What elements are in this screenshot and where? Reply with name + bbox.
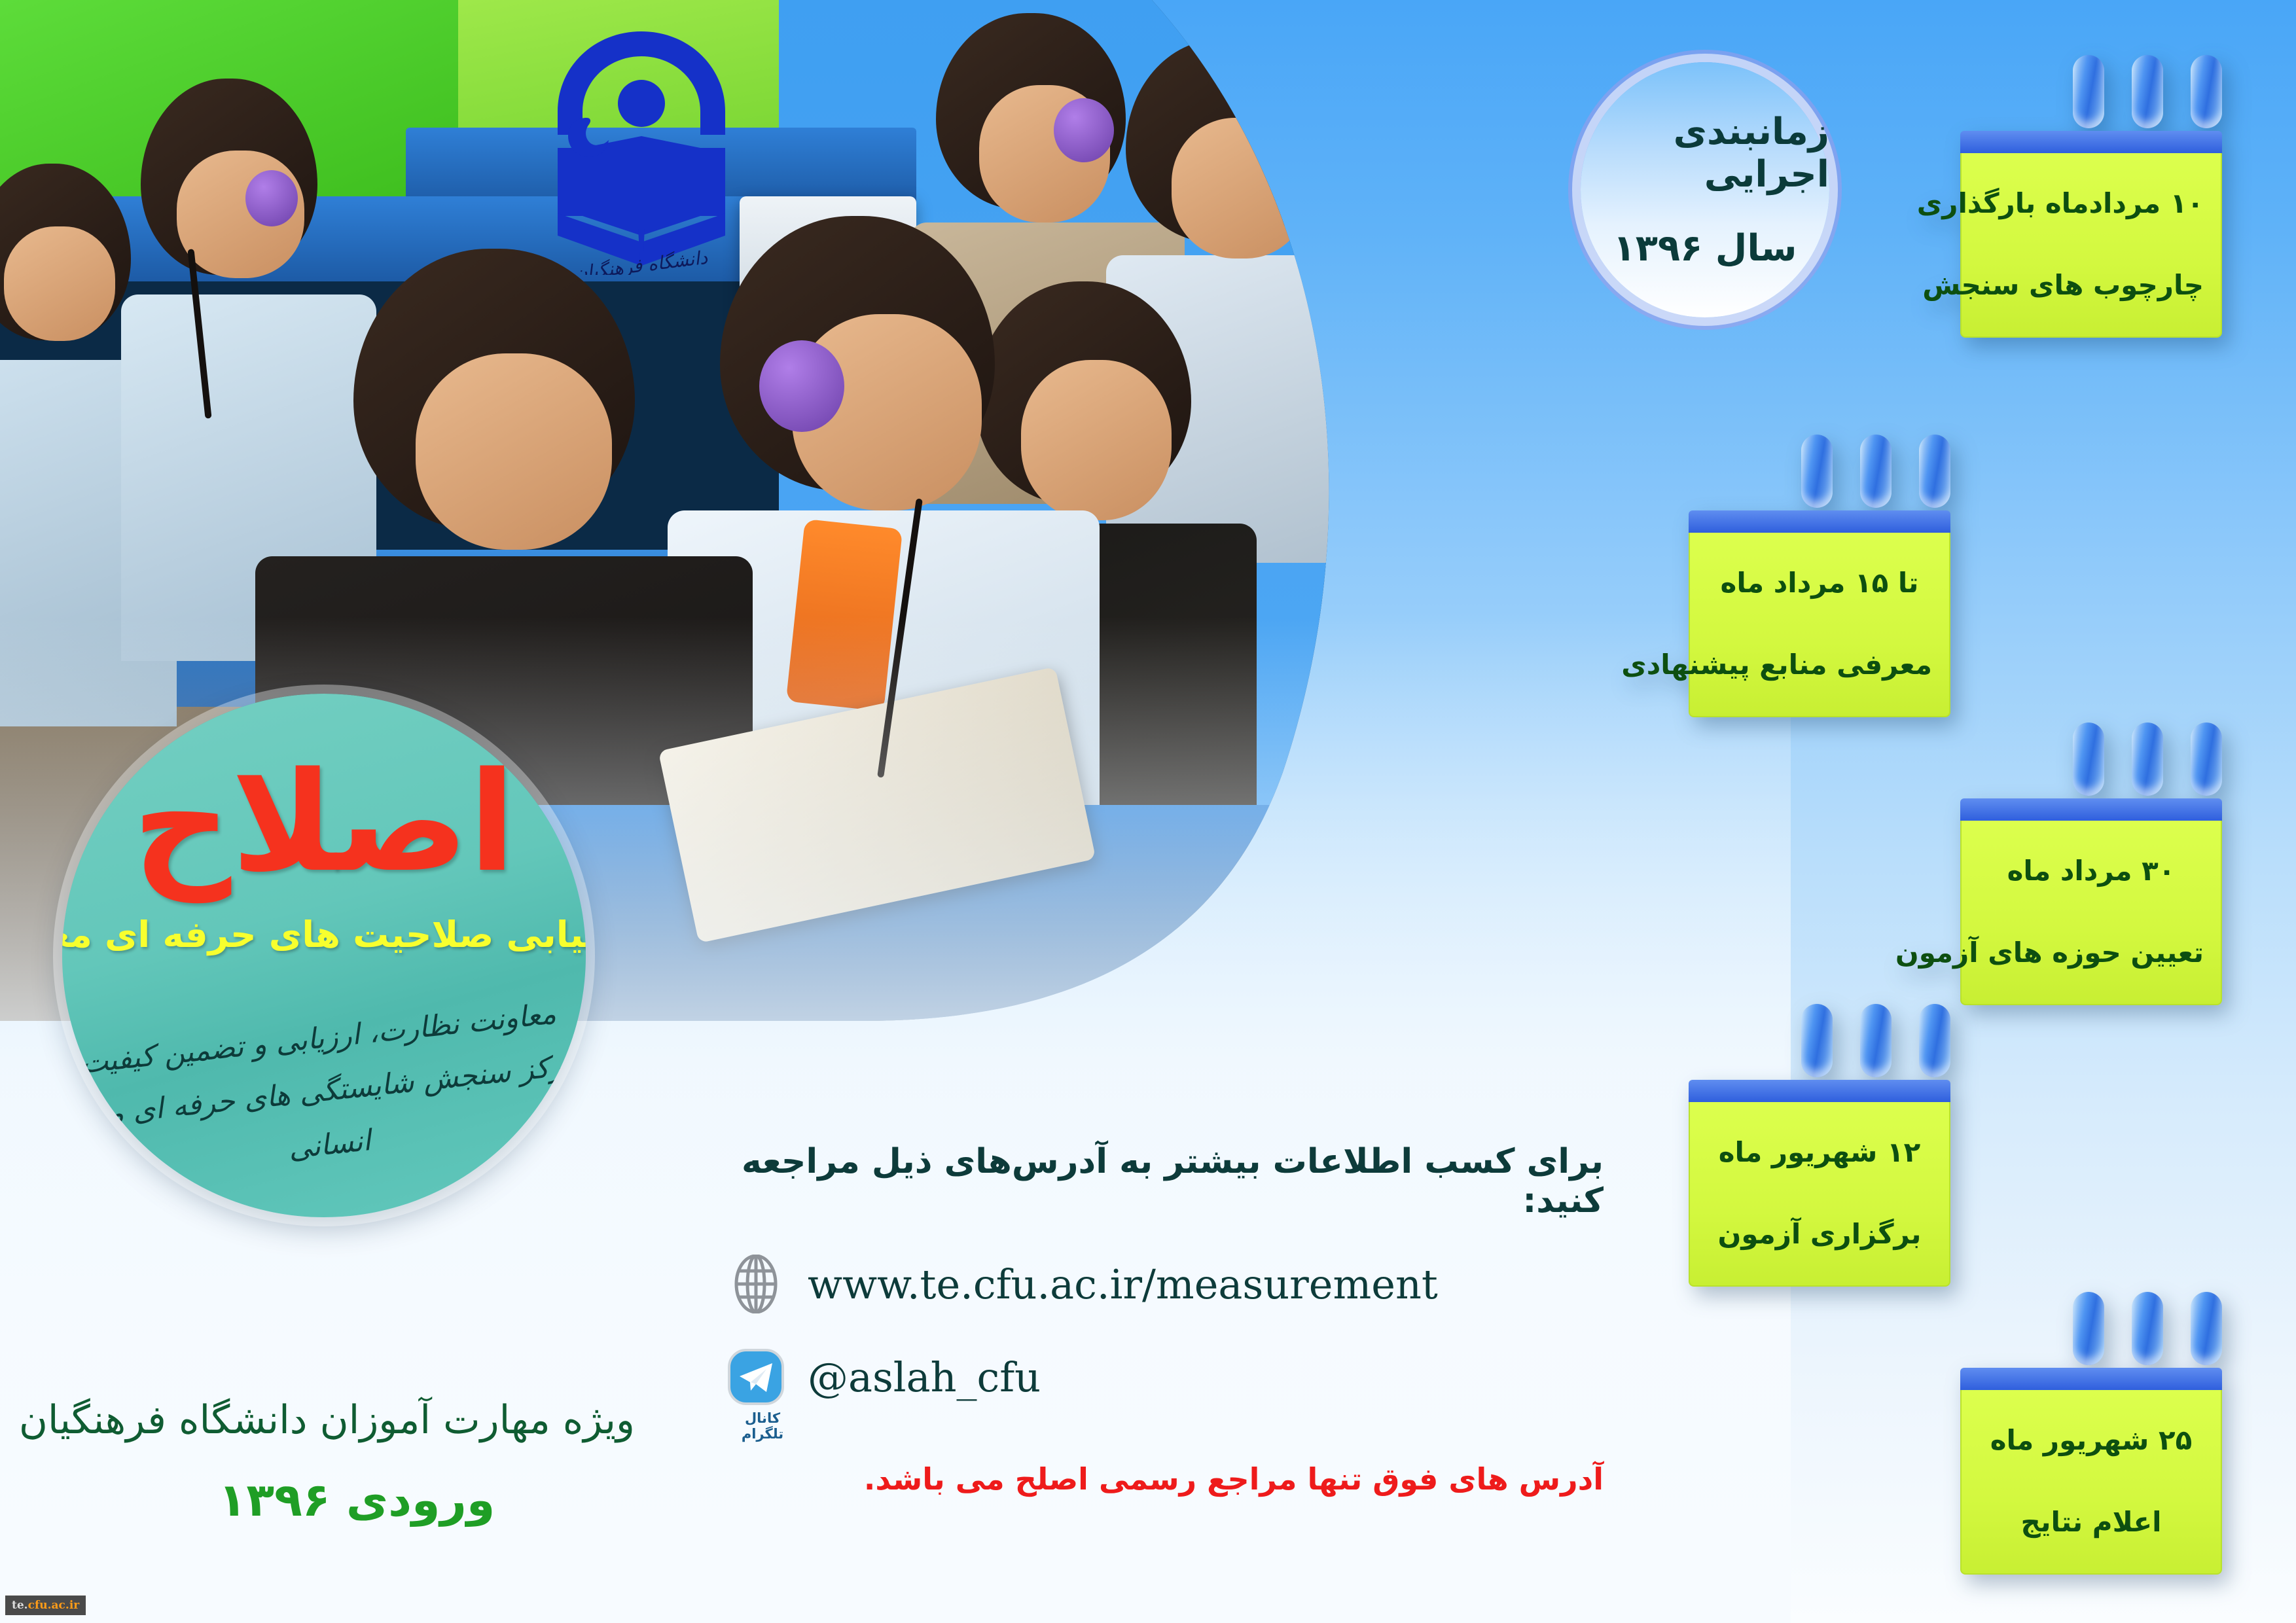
- calendar-body: ۱۰ مردادماه بارگذاری چارچوب های سنجش: [1960, 153, 2222, 338]
- calendar-header-bar: [1960, 131, 2222, 153]
- audience-year: ورودی ۱۳۹۶: [79, 1473, 635, 1527]
- telegram-row[interactable]: کانال تلگرام @aslah_cfu: [726, 1347, 1604, 1406]
- timeline-desc: اعلام نتایج: [1979, 1506, 2204, 1538]
- timeline-desc: معرفی منابع پیشنهادی: [1707, 649, 1932, 681]
- timeline-date: ۳۰ مرداد ماه: [1979, 855, 2204, 887]
- calendar-header-bar: [1689, 510, 1950, 533]
- badge-line-1: زمانبندی اجرایی: [1581, 111, 1829, 196]
- audience-block: ویژه مهارت آموزان دانشگاه فرهنگیان ورودی…: [79, 1397, 635, 1527]
- organization-block: معاونت نظارت، ارزیابی و تضمین کیفیت مرکز…: [62, 985, 586, 1198]
- timeline-desc: برگزاری آزمون: [1707, 1218, 1932, 1250]
- timeline-card: تا ۱۵ مرداد ماه معرفی منابع پیشنهادی: [1689, 458, 1950, 717]
- timeline-desc: تعیین حوزه های آزمون: [1979, 936, 2204, 969]
- badge-line-2: سال ۱۳۹۶: [1613, 227, 1797, 270]
- calendar-rings-icon: [1972, 79, 2222, 131]
- website-row[interactable]: www.te.cfu.ac.ir/measurement: [726, 1255, 1604, 1313]
- timeline-date: ۱۲ شهریور ماه: [1707, 1136, 1932, 1168]
- calendar-body: ۱۲ شهریور ماه برگزاری آزمون: [1689, 1102, 1950, 1287]
- timeline-date: تا ۱۵ مرداد ماه: [1707, 567, 1932, 599]
- website-url[interactable]: www.te.cfu.ac.ir/measurement: [808, 1260, 1438, 1308]
- schedule-badge: زمانبندی اجرایی سال ۱۳۹۶: [1581, 62, 1829, 317]
- timeline-date: ۲۵ شهریور ماه: [1979, 1424, 2204, 1456]
- contacts-heading: برای کسب اطلاعات بیشتر به آدرس‌های ذیل م…: [726, 1142, 1604, 1221]
- timeline-card: ۲۵ شهریور ماه اعلام نتایج: [1960, 1315, 2222, 1575]
- calendar-rings-icon: [1972, 746, 2222, 798]
- globe-icon: [726, 1255, 785, 1313]
- timeline-date: ۱۰ مردادماه بارگذاری: [1979, 187, 2204, 219]
- calendar-body: تا ۱۵ مرداد ماه معرفی منابع پیشنهادی: [1689, 533, 1950, 717]
- watermark-domain: cfu.ac.ir: [28, 1599, 80, 1612]
- audience-line: ویژه مهارت آموزان دانشگاه فرهنگیان: [79, 1397, 635, 1443]
- calendar-body: ۳۰ مرداد ماه تعیین حوزه های آزمون: [1960, 821, 2222, 1005]
- calendar-rings-icon: [1700, 458, 1950, 510]
- official-sources-disclaimer: آدرس های فوق تنها مراجع رسمی اصلح می باش…: [726, 1461, 1604, 1497]
- timeline-card: ۳۰ مرداد ماه تعیین حوزه های آزمون: [1960, 746, 2222, 1005]
- page-subtitle: ارزشیابی صلاحیت های حرفه ای معلمی: [62, 914, 586, 955]
- farhangian-university-logo-icon: دانشگاه فرهنگیان: [543, 20, 740, 275]
- telegram-caption: کانال تلگرام: [726, 1410, 798, 1442]
- site-watermark: te.cfu.ac.ir: [5, 1596, 86, 1615]
- contacts-block: برای کسب اطلاعات بیشتر به آدرس‌های ذیل م…: [726, 1142, 1604, 1497]
- main-title-circle: اصلاح ارزشیابی صلاحیت های حرفه ای معلمی …: [62, 694, 586, 1217]
- poster-canvas: دانشگاه فرهنگیان اصلاح ارزشیابی صلاحیت ه…: [0, 0, 2296, 1623]
- telegram-icon: کانال تلگرام: [726, 1347, 785, 1406]
- calendar-header-bar: [1960, 1368, 2222, 1390]
- calendar-rings-icon: [1700, 1027, 1950, 1080]
- timeline-card: ۱۲ شهریور ماه برگزاری آزمون: [1689, 1027, 1950, 1287]
- calendar-header-bar: [1960, 798, 2222, 821]
- calendar-body: ۲۵ شهریور ماه اعلام نتایج: [1960, 1390, 2222, 1575]
- page-title: اصلاح: [132, 754, 516, 891]
- timeline-desc: چارچوب های سنجش: [1979, 269, 2204, 301]
- telegram-handle[interactable]: @aslah_cfu: [808, 1353, 1041, 1401]
- timeline-card: ۱۰ مردادماه بارگذاری چارچوب های سنجش: [1960, 79, 2222, 338]
- calendar-header-bar: [1689, 1080, 1950, 1102]
- watermark-prefix: te.: [12, 1599, 28, 1612]
- calendar-rings-icon: [1972, 1315, 2222, 1368]
